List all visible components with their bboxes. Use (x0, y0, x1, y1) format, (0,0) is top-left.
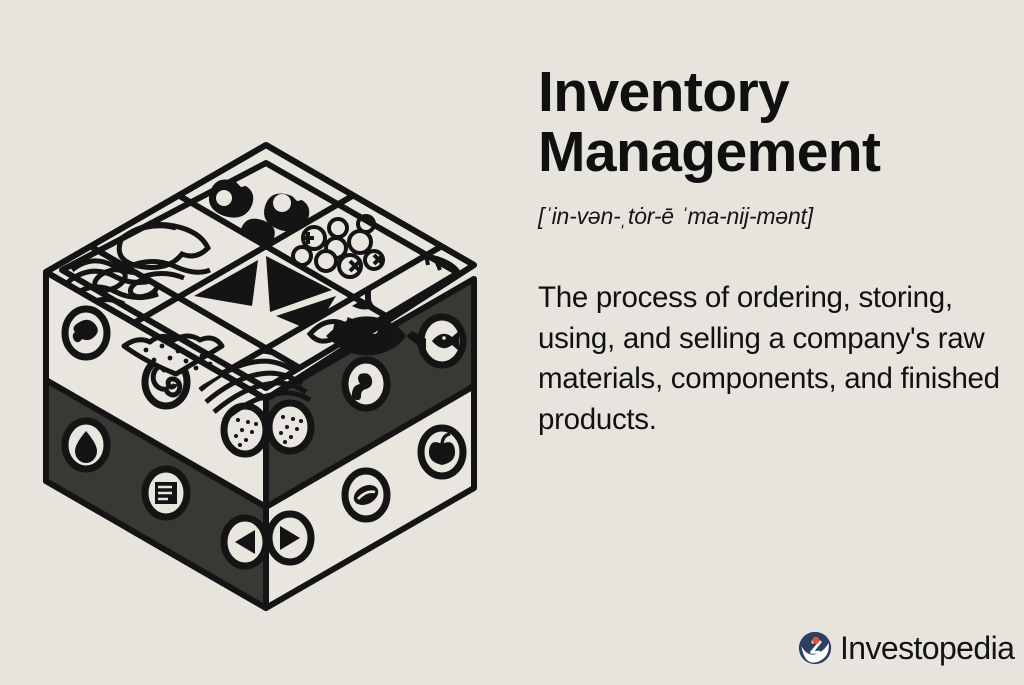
canned-goods-icon (145, 469, 187, 517)
crate-svg (14, 120, 504, 630)
apple-icon (421, 428, 463, 476)
definition-body: The process of ordering, storing, using,… (538, 278, 1008, 441)
definition-card: Inventory Management [ˈin-vən-ˌtȯr-ē ˈma… (0, 0, 1024, 685)
cheese-wedge-icon-right (269, 514, 311, 562)
seeded-bread-icon-right (269, 403, 311, 451)
meat-cut-icon (65, 309, 107, 357)
cheese-wedge-icon-left (224, 518, 266, 566)
shrimp-icon (345, 360, 387, 408)
page-title: Inventory Management (538, 62, 1008, 183)
inventory-crate-illustration (14, 120, 504, 630)
definition-text-column: Inventory Management [ˈin-vən-ˌtȯr-ē ˈma… (538, 62, 1008, 441)
coffee-bean-icon (345, 471, 387, 519)
investopedia-logo[interactable]: Investopedia (798, 631, 1014, 665)
investopedia-logo-icon (798, 631, 832, 665)
fish-icon (421, 317, 463, 365)
investopedia-logo-text: Investopedia (840, 632, 1014, 664)
water-drop-icon (65, 421, 107, 469)
pronunciation: [ˈin-vən-ˌtȯr-ē ˈma-nij-mənt] (538, 203, 1008, 230)
